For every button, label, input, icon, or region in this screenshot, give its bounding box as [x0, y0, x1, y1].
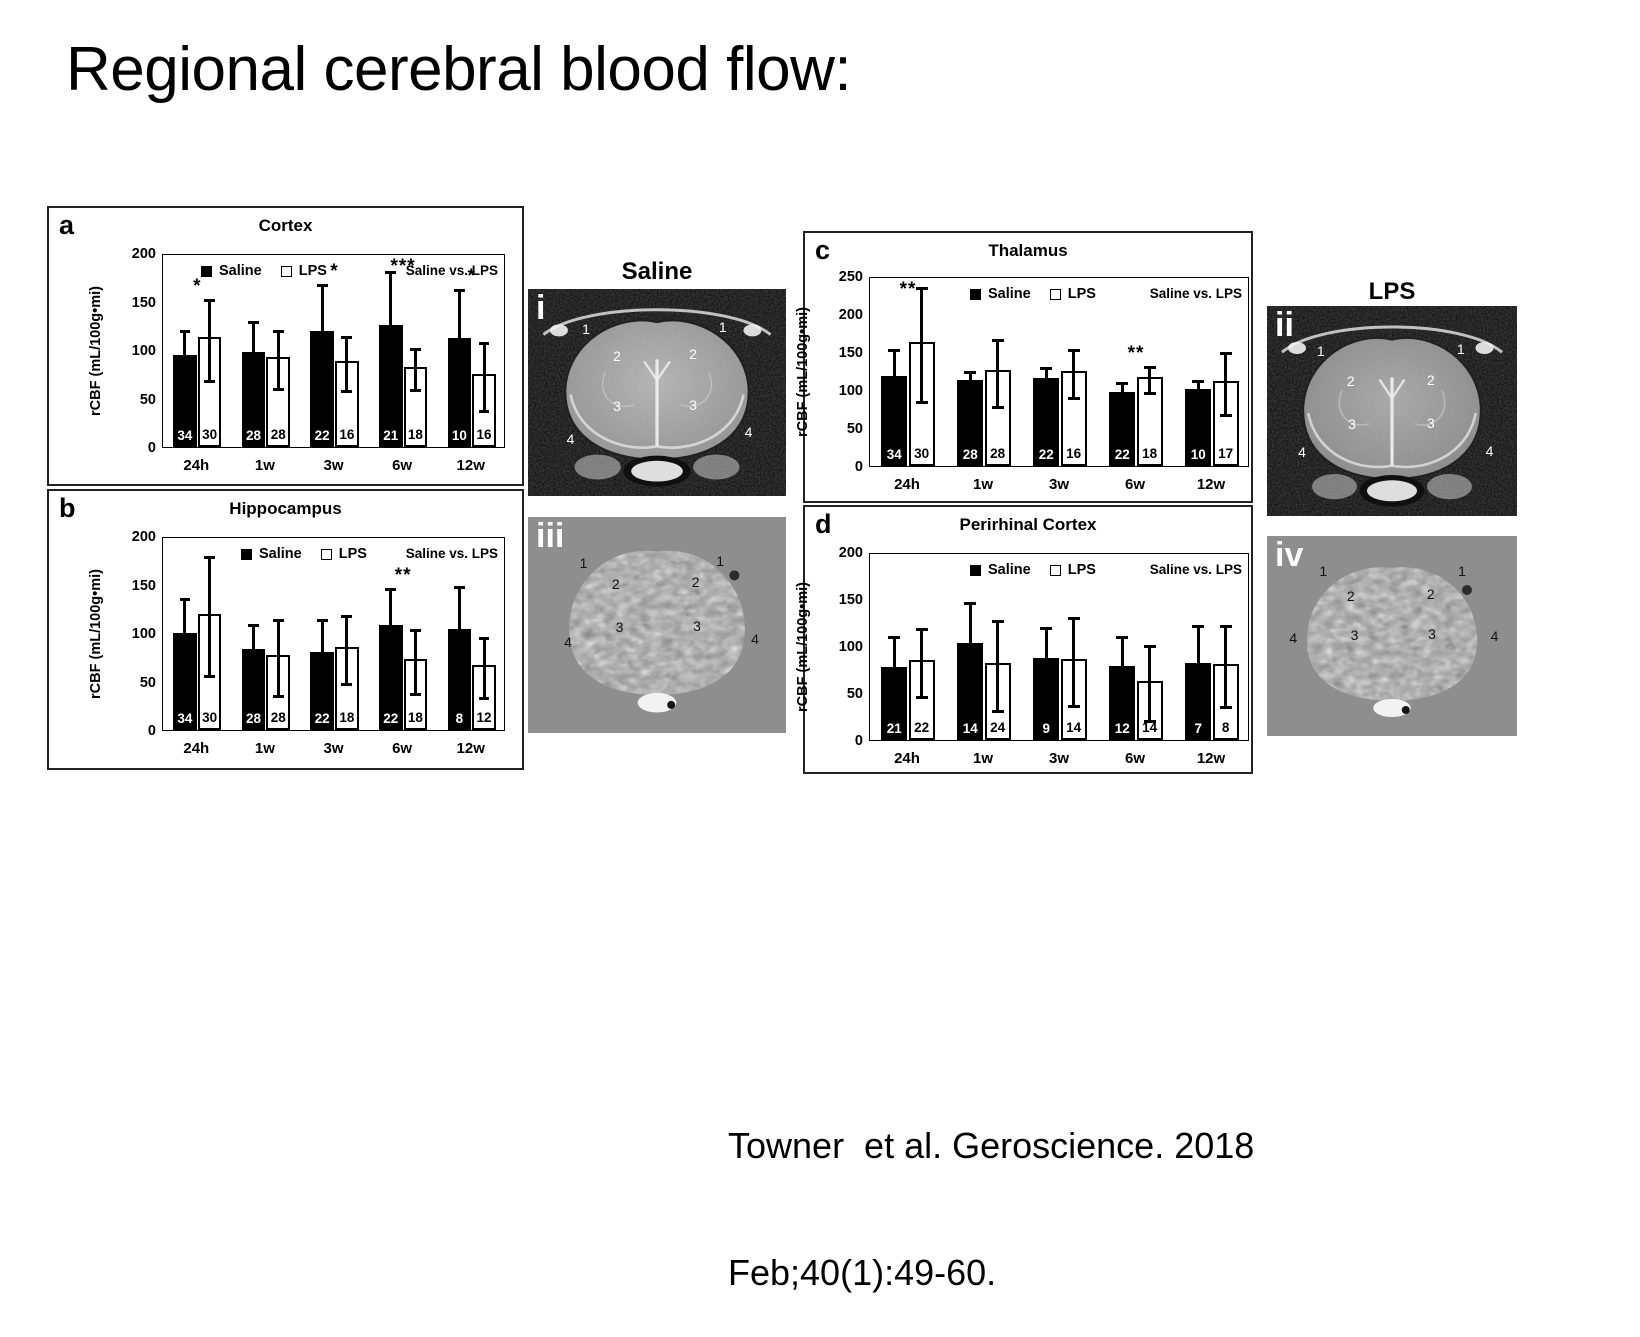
n-label-c-24h-saline: 34: [882, 448, 906, 462]
error-cap-b-12w-saline-lower: [454, 677, 465, 680]
y-tick-d-200: 200: [823, 545, 863, 561]
legend-label-lps: LPS: [339, 546, 367, 562]
roi-label-iii-2: 2: [612, 576, 620, 592]
y-tick-b-150: 150: [116, 578, 156, 594]
y-tick-a-100: 100: [116, 343, 156, 359]
error-bar-b-6w-saline: [389, 588, 392, 666]
n-label-c-3w-saline: 22: [1034, 448, 1058, 462]
error-cap-a-3w-saline-upper: [317, 284, 328, 287]
n-label-b-24h-saline: 34: [174, 712, 196, 726]
significance-marker-a-6w: ***: [391, 257, 416, 276]
x-tick-b-6w: 6w: [392, 740, 412, 757]
n-label-a-12w-lps: 16: [474, 428, 494, 442]
legend-label-lps: LPS: [299, 263, 327, 279]
roi-label-iv-1: 1: [1319, 563, 1327, 579]
n-label-a-24h-lps: 30: [200, 428, 220, 442]
error-cap-c-6w-lps-lower: [1144, 392, 1156, 395]
roi-label-ii-2: 2: [1347, 373, 1355, 389]
error-cap-b-3w-saline-lower: [317, 690, 328, 693]
error-cap-b-3w-saline-upper: [317, 619, 328, 622]
plot-area-c: SalineLPSSaline vs. LPS34302828221622181…: [869, 277, 1249, 467]
error-bar-b-24h-lps: [208, 556, 211, 674]
error-cap-c-3w-lps-upper: [1068, 349, 1080, 352]
error-bar-c-24h-saline: [893, 349, 896, 407]
error-bar-a-24h-saline: [183, 330, 186, 384]
comparison-note-b: Saline vs. LPS: [406, 546, 498, 561]
error-bar-a-3w-lps: [345, 336, 348, 390]
error-bar-b-1w-lps: [277, 619, 280, 695]
significance-marker-a-3w: *: [330, 262, 338, 281]
error-cap-c-1w-saline-upper: [964, 371, 976, 374]
n-label-b-24h-lps: 30: [200, 711, 220, 725]
error-cap-c-24h-lps-upper: [916, 287, 928, 290]
comparison-note-c: Saline vs. LPS: [1150, 286, 1242, 301]
error-cap-a-24h-saline-upper: [180, 330, 191, 333]
roi-label-ii-7: 3: [1427, 415, 1435, 431]
n-label-a-6w-lps: 18: [406, 428, 426, 442]
legend-label-saline: Saline: [219, 263, 262, 279]
legend-swatch-lps: [1050, 565, 1061, 576]
error-bar-d-24h-lps: [920, 628, 923, 696]
legend-label-saline: Saline: [259, 546, 302, 562]
error-cap-a-12w-saline-lower: [454, 392, 465, 395]
n-label-c-12w-lps: 17: [1215, 447, 1237, 461]
roi-label-ii-8: 4: [1486, 443, 1494, 459]
n-label-d-3w-saline: 9: [1034, 722, 1058, 736]
error-cap-d-12w-saline-lower: [1192, 704, 1204, 707]
roi-label-ii-6: 2: [1427, 372, 1435, 388]
y-tick-d-150: 150: [823, 592, 863, 608]
error-bar-b-3w-lps: [345, 615, 348, 683]
error-cap-d-1w-saline-upper: [964, 602, 976, 605]
roi-label-i-6: 2: [689, 346, 697, 362]
legend-label-lps: LPS: [1068, 562, 1096, 578]
roi-label-iv-2: 2: [1347, 588, 1355, 604]
error-bar-a-24h-lps: [208, 299, 211, 380]
roi-label-i-5: 1: [719, 319, 727, 335]
error-bar-a-3w-saline: [321, 284, 324, 381]
error-cap-a-12w-lps-upper: [479, 342, 490, 345]
error-cap-b-24h-lps-upper: [204, 556, 215, 559]
error-cap-b-6w-saline-upper: [385, 588, 396, 591]
y-tick-c-150: 150: [823, 345, 863, 361]
error-cap-c-6w-saline-upper: [1116, 382, 1128, 385]
panel-roman-i: i: [536, 291, 545, 325]
error-cap-c-6w-saline-lower: [1116, 405, 1128, 408]
error-bar-d-3w-lps: [1072, 617, 1075, 705]
n-label-c-1w-lps: 28: [987, 447, 1009, 461]
x-tick-a-12w: 12w: [457, 457, 485, 474]
perfusion-map-iii: iii12341234: [528, 517, 786, 733]
error-bar-a-6w-lps: [414, 348, 417, 389]
x-tick-c-3w: 3w: [1049, 476, 1069, 493]
error-bar-d-24h-saline: [893, 636, 896, 702]
error-cap-b-24h-saline-lower: [180, 672, 191, 675]
error-cap-a-24h-lps-lower: [204, 380, 215, 383]
chart-panel-d: dPerirhinal CortexrCBF (mL/100g•mi)05010…: [803, 505, 1253, 774]
n-label-d-3w-lps: 14: [1063, 721, 1085, 735]
error-cap-d-1w-saline-lower: [964, 688, 976, 691]
legend-swatch-lps: [1050, 289, 1061, 300]
roi-label-i-1: 1: [582, 321, 590, 337]
roi-label-iv-8: 4: [1491, 628, 1499, 644]
roi-label-iii-8: 4: [751, 631, 759, 647]
error-cap-d-12w-saline-upper: [1192, 625, 1204, 628]
error-cap-d-6w-saline-lower: [1116, 700, 1128, 703]
roi-label-i-7: 3: [689, 397, 697, 413]
x-tick-d-24h: 24h: [894, 750, 920, 767]
page-title: Regional cerebral blood flow:: [66, 34, 851, 105]
error-bar-b-24h-saline: [183, 598, 186, 672]
n-label-a-6w-saline: 21: [380, 429, 402, 443]
error-cap-d-24h-saline-lower: [888, 702, 900, 705]
error-bar-c-6w-saline: [1121, 382, 1124, 405]
error-cap-a-1w-saline-lower: [248, 387, 259, 390]
x-tick-d-12w: 12w: [1197, 750, 1225, 767]
legend-c: SalineLPS: [970, 286, 1096, 302]
panel-roman-iii: iii: [536, 519, 564, 553]
n-label-c-12w-saline: 10: [1186, 448, 1210, 462]
error-cap-b-1w-saline-upper: [248, 624, 259, 627]
error-cap-c-1w-lps-upper: [992, 339, 1004, 342]
n-label-c-6w-lps: 18: [1139, 447, 1161, 461]
error-cap-d-1w-lps-lower: [992, 710, 1004, 713]
y-tick-a-50: 50: [116, 392, 156, 408]
error-bar-b-12w-saline: [458, 586, 461, 677]
y-tick-c-250: 250: [823, 269, 863, 285]
error-cap-a-3w-lps-lower: [341, 390, 352, 393]
n-label-d-12w-saline: 7: [1186, 722, 1210, 736]
error-bar-d-12w-saline: [1197, 625, 1200, 704]
n-label-a-1w-saline: 28: [243, 429, 265, 443]
error-cap-c-3w-lps-lower: [1068, 397, 1080, 400]
error-cap-b-6w-lps-upper: [410, 629, 421, 632]
error-bar-b-12w-lps: [483, 637, 486, 697]
n-label-c-3w-lps: 16: [1063, 447, 1085, 461]
x-tick-b-12w: 12w: [457, 740, 485, 757]
y-axis-label-d: rCBF (mL/100g•mi): [795, 553, 811, 741]
y-tick-d-0: 0: [823, 733, 863, 749]
roi-label-iii-6: 2: [692, 574, 700, 590]
legend-label-saline: Saline: [988, 286, 1031, 302]
error-cap-c-3w-saline-lower: [1040, 393, 1052, 396]
error-cap-a-12w-saline-upper: [454, 289, 465, 292]
roi-label-i-3: 3: [613, 398, 621, 414]
error-bar-d-3w-saline: [1045, 627, 1048, 693]
error-bar-c-3w-lps: [1072, 349, 1075, 396]
x-tick-d-6w: 6w: [1125, 750, 1145, 767]
error-cap-d-3w-lps-upper: [1068, 617, 1080, 620]
legend-b: SalineLPS: [241, 546, 367, 562]
y-tick-b-100: 100: [116, 626, 156, 642]
error-bar-d-6w-saline: [1121, 636, 1124, 700]
n-label-d-24h-lps: 22: [911, 721, 933, 735]
x-tick-c-6w: 6w: [1125, 476, 1145, 493]
panel-title-d: Perirhinal Cortex: [805, 515, 1251, 535]
error-cap-d-12w-lps-lower: [1220, 706, 1232, 709]
error-cap-a-3w-lps-upper: [341, 336, 352, 339]
error-cap-b-12w-lps-upper: [479, 637, 490, 640]
significance-marker-c-24h: **: [900, 280, 917, 299]
error-cap-a-24h-saline-lower: [180, 384, 191, 387]
error-cap-a-3w-saline-lower: [317, 381, 328, 384]
error-bar-c-12w-saline: [1197, 380, 1200, 403]
error-cap-c-24h-lps-lower: [916, 401, 928, 404]
roi-label-ii-5: 1: [1457, 341, 1465, 357]
error-cap-c-12w-lps-lower: [1220, 414, 1232, 417]
error-bar-d-12w-lps: [1224, 625, 1227, 706]
significance-marker-a-12w: *: [467, 267, 475, 286]
error-cap-c-12w-saline-lower: [1192, 403, 1204, 406]
error-bar-d-1w-saline: [969, 602, 972, 688]
n-label-d-24h-saline: 21: [882, 722, 906, 736]
error-cap-a-1w-lps-lower: [273, 388, 284, 391]
error-bar-d-1w-lps: [996, 620, 999, 710]
error-cap-d-12w-lps-upper: [1220, 625, 1232, 628]
significance-marker-c-6w: **: [1128, 344, 1145, 363]
roi-label-ii-1: 1: [1317, 343, 1325, 359]
y-axis-label-c: rCBF (mL/100g•mi): [795, 277, 811, 467]
error-cap-d-3w-saline-lower: [1040, 693, 1052, 696]
error-bar-c-1w-saline: [969, 371, 972, 392]
n-label-b-1w-lps: 28: [268, 711, 288, 725]
error-bar-b-1w-saline: [252, 624, 255, 676]
x-tick-a-24h: 24h: [183, 457, 209, 474]
n-label-c-6w-saline: 22: [1110, 448, 1134, 462]
roi-label-i-4: 4: [567, 431, 575, 447]
n-label-d-1w-saline: 14: [958, 722, 982, 736]
legend-a: SalineLPS: [201, 263, 327, 279]
significance-marker-a-24h: *: [193, 277, 201, 296]
citation-line-2: Feb;40(1):49-60.: [728, 1252, 1254, 1294]
roi-label-iii-3: 3: [616, 619, 624, 635]
x-tick-b-3w: 3w: [323, 740, 343, 757]
error-cap-c-24h-saline-lower: [888, 407, 900, 410]
error-bar-c-24h-lps: [920, 287, 923, 401]
plot-area-a: SalineLPSSaline vs. LPS34302828221621181…: [162, 254, 505, 448]
roi-label-iii-7: 3: [693, 618, 701, 634]
legend-swatch-saline: [201, 266, 212, 277]
y-tick-d-50: 50: [823, 686, 863, 702]
error-cap-c-12w-lps-upper: [1220, 352, 1232, 355]
n-label-a-3w-lps: 16: [337, 428, 357, 442]
anatomical-mri-i: i12341234: [528, 289, 786, 496]
error-bar-a-1w-lps: [277, 330, 280, 388]
y-tick-c-50: 50: [823, 421, 863, 437]
n-label-d-12w-lps: 8: [1215, 721, 1237, 735]
n-label-d-1w-lps: 24: [987, 721, 1009, 735]
legend-d: SalineLPS: [970, 562, 1096, 578]
error-cap-d-3w-saline-upper: [1040, 627, 1052, 630]
error-cap-b-24h-lps-lower: [204, 675, 215, 678]
error-cap-a-1w-saline-upper: [248, 321, 259, 324]
n-label-a-3w-saline: 22: [311, 429, 333, 443]
error-cap-c-12w-saline-upper: [1192, 380, 1204, 383]
roi-label-iv-7: 3: [1428, 626, 1436, 642]
panel-roman-iv: iv: [1275, 538, 1303, 572]
image-group-title-lps: LPS: [1369, 278, 1416, 306]
y-tick-d-100: 100: [823, 639, 863, 655]
error-cap-a-6w-lps-upper: [410, 348, 421, 351]
y-tick-a-150: 150: [116, 295, 156, 311]
error-cap-c-24h-saline-upper: [888, 349, 900, 352]
x-tick-c-24h: 24h: [894, 476, 920, 493]
error-cap-d-6w-lps-lower: [1144, 720, 1156, 723]
error-cap-c-6w-lps-upper: [1144, 366, 1156, 369]
roi-label-iii-4: 4: [564, 634, 572, 650]
x-tick-d-1w: 1w: [973, 750, 993, 767]
roi-label-i-2: 2: [613, 348, 621, 364]
error-cap-c-3w-saline-upper: [1040, 367, 1052, 370]
legend-swatch-lps: [281, 266, 292, 277]
n-label-a-24h-saline: 34: [174, 429, 196, 443]
y-tick-c-100: 100: [823, 383, 863, 399]
error-cap-c-1w-saline-lower: [964, 393, 976, 396]
error-bar-c-1w-lps: [996, 339, 999, 406]
error-cap-d-6w-lps-upper: [1144, 645, 1156, 648]
roi-label-iv-4: 4: [1289, 630, 1297, 646]
y-tick-c-0: 0: [823, 459, 863, 475]
y-axis-label-b: rCBF (mL/100g•mi): [88, 537, 104, 731]
n-label-c-1w-saline: 28: [958, 448, 982, 462]
error-cap-c-1w-lps-lower: [992, 406, 1004, 409]
n-label-c-24h-lps: 30: [911, 447, 933, 461]
legend-label-saline: Saline: [988, 562, 1031, 578]
error-cap-b-1w-lps-upper: [273, 619, 284, 622]
error-cap-b-12w-lps-lower: [479, 697, 490, 700]
citation: Towner et al. Geroscience. 2018 Feb;40(1…: [728, 1040, 1254, 1337]
y-tick-b-200: 200: [116, 529, 156, 545]
error-bar-b-3w-saline: [321, 619, 324, 691]
perfusion-map-iv: iv12341234: [1267, 536, 1517, 736]
error-cap-b-3w-lps-upper: [341, 615, 352, 618]
x-tick-a-3w: 3w: [323, 457, 343, 474]
error-cap-d-6w-saline-upper: [1116, 636, 1128, 639]
error-cap-b-6w-saline-lower: [385, 666, 396, 669]
n-label-b-6w-lps: 18: [406, 711, 426, 725]
error-cap-d-24h-lps-upper: [916, 628, 928, 631]
anatomical-mri-ii: ii12341234: [1267, 306, 1517, 516]
n-label-b-3w-saline: 22: [311, 712, 333, 726]
roi-label-i-8: 4: [745, 424, 753, 440]
error-bar-c-12w-lps: [1224, 352, 1227, 414]
y-axis-label-a: rCBF (mL/100g•mi): [88, 254, 104, 448]
error-cap-d-24h-lps-lower: [916, 696, 928, 699]
comparison-note-a: Saline vs. LPS: [406, 263, 498, 278]
y-tick-a-0: 0: [116, 440, 156, 456]
roi-label-iii-5: 1: [716, 553, 724, 569]
chart-panel-b: bHippocampusrCBF (mL/100g•mi)05010015020…: [47, 489, 524, 770]
error-cap-b-24h-saline-upper: [180, 598, 191, 601]
citation-line-1: Towner et al. Geroscience. 2018: [728, 1125, 1254, 1167]
plot-area-b: SalineLPSSaline vs. LPS34302828221822188…: [162, 537, 505, 731]
error-bar-a-12w-saline: [458, 289, 461, 392]
error-bar-a-12w-lps: [483, 342, 486, 410]
error-cap-d-1w-lps-upper: [992, 620, 1004, 623]
y-tick-b-0: 0: [116, 723, 156, 739]
plot-area-d: SalineLPSSaline vs. LPS21221424914121478: [869, 553, 1249, 741]
error-cap-b-1w-lps-lower: [273, 695, 284, 698]
error-cap-a-6w-lps-lower: [410, 389, 421, 392]
error-bar-c-3w-saline: [1045, 367, 1048, 393]
x-tick-a-1w: 1w: [255, 457, 275, 474]
chart-panel-c: cThalamusrCBF (mL/100g•mi)05010015020025…: [803, 231, 1253, 503]
x-tick-b-1w: 1w: [255, 740, 275, 757]
y-tick-a-200: 200: [116, 246, 156, 262]
n-label-b-1w-saline: 28: [243, 712, 265, 726]
error-cap-b-12w-saline-upper: [454, 586, 465, 589]
x-tick-d-3w: 3w: [1049, 750, 1069, 767]
image-group-title-saline: Saline: [622, 258, 693, 286]
x-tick-c-1w: 1w: [973, 476, 993, 493]
error-cap-d-3w-lps-lower: [1068, 705, 1080, 708]
roi-label-iv-3: 3: [1351, 627, 1359, 643]
error-cap-a-1w-lps-upper: [273, 330, 284, 333]
comparison-note-d: Saline vs. LPS: [1150, 562, 1242, 577]
error-bar-d-6w-lps: [1148, 645, 1151, 720]
legend-swatch-lps: [321, 549, 332, 560]
legend-swatch-saline: [241, 549, 252, 560]
error-cap-b-6w-lps-lower: [410, 693, 421, 696]
legend-swatch-saline: [970, 565, 981, 576]
panel-title-a: Cortex: [49, 216, 522, 236]
roi-label-iv-6: 2: [1427, 586, 1435, 602]
roi-label-iii-1: 1: [580, 555, 588, 571]
error-cap-b-1w-saline-lower: [248, 677, 259, 680]
roi-label-ii-4: 4: [1298, 444, 1306, 460]
legend-label-lps: LPS: [1068, 286, 1096, 302]
error-bar-b-6w-lps: [414, 629, 417, 693]
n-label-d-6w-saline: 12: [1110, 722, 1134, 736]
error-bar-a-1w-saline: [252, 321, 255, 387]
panel-title-b: Hippocampus: [49, 499, 522, 519]
n-label-b-12w-saline: 8: [449, 712, 471, 726]
n-label-b-6w-saline: 22: [380, 712, 402, 726]
error-cap-a-6w-saline-lower: [385, 383, 396, 386]
x-tick-c-12w: 12w: [1197, 476, 1225, 493]
error-cap-a-24h-lps-upper: [204, 299, 215, 302]
x-tick-a-6w: 6w: [392, 457, 412, 474]
error-bar-a-6w-saline: [389, 271, 392, 384]
n-label-b-12w-lps: 12: [474, 711, 494, 725]
y-tick-b-50: 50: [116, 675, 156, 691]
error-bar-c-6w-lps: [1148, 366, 1151, 392]
roi-label-ii-3: 3: [1348, 416, 1356, 432]
panel-roman-ii: ii: [1275, 308, 1294, 342]
error-cap-b-3w-lps-lower: [341, 683, 352, 686]
n-label-a-1w-lps: 28: [268, 428, 288, 442]
n-label-a-12w-saline: 10: [449, 429, 471, 443]
y-tick-c-200: 200: [823, 307, 863, 323]
n-label-b-3w-lps: 18: [337, 711, 357, 725]
error-cap-d-24h-saline-upper: [888, 636, 900, 639]
error-cap-a-12w-lps-lower: [479, 410, 490, 413]
roi-label-iv-5: 1: [1458, 563, 1466, 579]
legend-swatch-saline: [970, 289, 981, 300]
x-tick-b-24h: 24h: [183, 740, 209, 757]
chart-panel-a: aCortexrCBF (mL/100g•mi)05010015020024h1…: [47, 206, 524, 486]
panel-title-c: Thalamus: [805, 241, 1251, 261]
significance-marker-b-6w: **: [395, 566, 412, 585]
